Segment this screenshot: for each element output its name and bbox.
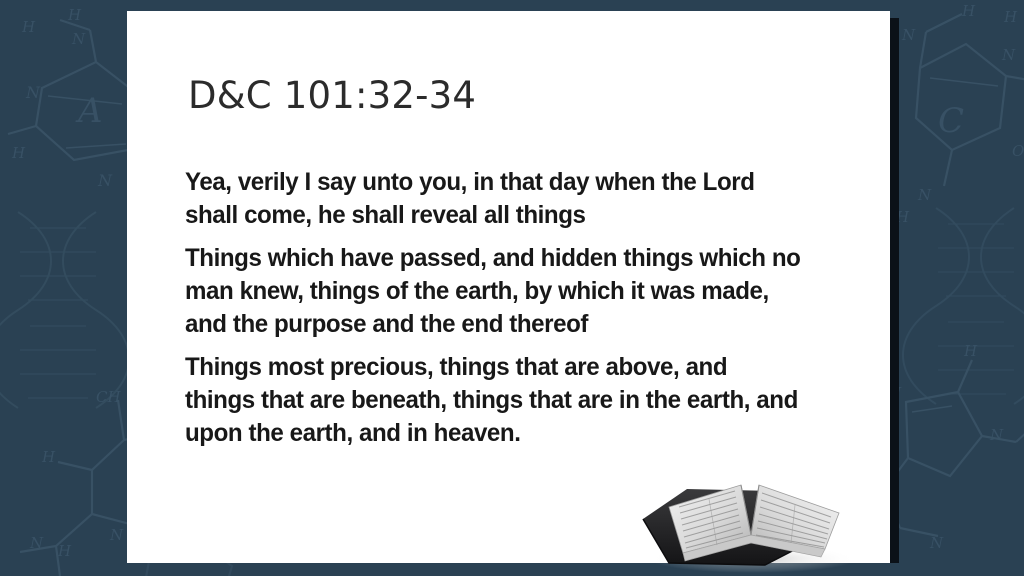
svg-text:A: A <box>75 91 103 131</box>
svg-text:N: N <box>929 534 944 552</box>
slide-body-text: Yea, verily I say unto you, in that day … <box>185 166 825 450</box>
svg-text:N: N <box>71 30 86 48</box>
svg-text:C: C <box>938 101 964 141</box>
svg-text:O: O <box>1012 142 1024 160</box>
open-book-image <box>625 473 875 573</box>
scripture-paragraph-2: Things which have passed, and hidden thi… <box>185 242 803 341</box>
svg-text:N: N <box>1001 46 1016 64</box>
svg-text:H: H <box>11 144 26 162</box>
svg-text:N: N <box>97 171 113 190</box>
molecule-lower-right <box>884 360 1024 536</box>
svg-text:N: N <box>901 26 916 44</box>
svg-text:H: H <box>21 18 36 36</box>
molecule-adenine-left <box>8 20 140 176</box>
svg-text:N: N <box>989 426 1004 444</box>
card-drop-shadow <box>890 18 899 563</box>
svg-text:H: H <box>41 448 56 466</box>
slide-content-card: D&C 101:32-34 Yea, verily I say unto you… <box>127 11 890 563</box>
svg-text:H: H <box>963 342 978 360</box>
dna-helix-left <box>0 212 129 408</box>
scripture-paragraph-3: Things most precious, things that are ab… <box>185 351 803 450</box>
svg-text:H: H <box>67 6 82 24</box>
svg-text:H: H <box>961 2 976 20</box>
svg-text:H: H <box>1003 8 1018 26</box>
svg-text:N: N <box>25 83 41 102</box>
molecule-cytosine-right <box>916 14 1024 186</box>
dna-helix-right <box>903 208 1024 404</box>
svg-text:N: N <box>917 186 932 204</box>
slide-title: D&C 101:32-34 <box>188 74 476 117</box>
svg-text:N: N <box>29 534 44 552</box>
svg-text:H: H <box>57 542 72 560</box>
svg-text:CH: CH <box>96 388 121 406</box>
svg-text:N: N <box>109 526 124 544</box>
presentation-slide: A N N H H N H <box>0 0 1024 576</box>
scripture-paragraph-1: Yea, verily I say unto you, in that day … <box>185 166 803 232</box>
